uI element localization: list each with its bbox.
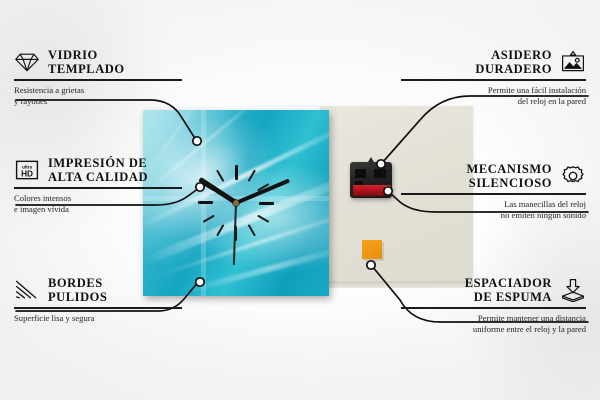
ultra-hd-icon-label-bottom: HD [21, 170, 33, 179]
title-line-1: BORDES [48, 276, 107, 290]
callout-title: MECANISMO SILENCIOSO [466, 162, 552, 190]
desc-line-2: no emiten ningún sonido [401, 210, 586, 221]
callout-divider [401, 307, 586, 309]
desc-line-2: uniforme entre el reloj y la pared [401, 324, 586, 335]
polished-edges-icon [14, 278, 40, 302]
callout-description: Superficie lisa y segura [14, 313, 199, 324]
callout-espaciador-de-espuma: ESPACIADOR DE ESPUMA Permite mantener un… [401, 276, 586, 335]
title-line-2: DE ESPUMA [465, 290, 552, 304]
title-line-2: TEMPLADO [48, 62, 125, 76]
callout-description: Resistencia a grietas y rayones [14, 85, 199, 107]
ultra-hd-icon: ultra HD [14, 158, 40, 182]
clock-second-hand [233, 203, 237, 265]
feather-streak [182, 243, 329, 295]
desc-line-2: e imagen vívida [14, 204, 199, 215]
title-line-1: MECANISMO [466, 162, 552, 176]
callout-header: BORDES PULIDOS [14, 276, 199, 304]
callout-title: VIDRIO TEMPLADO [48, 48, 125, 76]
clock-movement-mechanism [350, 162, 392, 198]
callout-header: VIDRIO TEMPLADO [14, 48, 199, 76]
gear-icon [560, 164, 586, 188]
callout-mecanismo-silencioso: MECANISMO SILENCIOSO Las manecillas del … [401, 162, 586, 221]
callout-impresion-alta-calidad: ultra HD IMPRESIÓN DE ALTA CALIDAD Color… [14, 156, 199, 215]
title-line-2: ALTA CALIDAD [48, 170, 148, 184]
callout-header: ASIDERO DURADERO [401, 48, 586, 76]
desc-line-1: Colores intensos [14, 193, 199, 204]
callout-description: Permite una fácil instalación del reloj … [401, 85, 586, 107]
product-infographic: VIDRIO TEMPLADO Resistencia a grietas y … [0, 0, 600, 400]
callout-title: ESPACIADOR DE ESPUMA [465, 276, 552, 304]
title-line-1: ASIDERO [475, 48, 552, 62]
desc-line-1: Permite mantener una distancia [401, 313, 586, 324]
callout-header: MECANISMO SILENCIOSO [401, 162, 586, 190]
callout-description: Las manecillas del reloj no emiten ningú… [401, 199, 586, 221]
clock-tick-bar [259, 202, 274, 205]
callout-divider [14, 307, 182, 309]
callout-title: BORDES PULIDOS [48, 276, 107, 304]
title-line-1: VIDRIO [48, 48, 125, 62]
title-line-2: PULIDOS [48, 290, 107, 304]
callout-divider [14, 187, 182, 189]
clock-tick-bar [203, 215, 215, 223]
callout-asidero-duradero: ASIDERO DURADERO Permite una fácil insta… [401, 48, 586, 107]
movement-slot [355, 169, 366, 178]
aa-battery [353, 185, 391, 196]
clock-hour-hand [198, 177, 238, 205]
callout-divider [401, 193, 586, 195]
desc-line-1: Permite una fácil instalación [401, 85, 586, 96]
clock-tick-bar [235, 165, 238, 180]
desc-line-2: del reloj en la pared [401, 96, 586, 107]
movement-body [350, 162, 392, 198]
glass-seam-vertical [201, 110, 206, 296]
movement-slot [374, 169, 386, 178]
clock-tick-bar [216, 170, 224, 182]
desc-line-1: Superficie lisa y segura [14, 313, 199, 324]
callout-divider [14, 79, 182, 81]
callout-header: ESPACIADOR DE ESPUMA [401, 276, 586, 304]
callout-vidrio-templado: VIDRIO TEMPLADO Resistencia a grietas y … [14, 48, 199, 107]
clock-tick-bar [216, 224, 224, 236]
desc-line-1: Resistencia a grietas [14, 85, 199, 96]
callout-description: Colores intensos e imagen vívida [14, 193, 199, 215]
clock-tick-bar [257, 215, 269, 223]
callout-title: ASIDERO DURADERO [475, 48, 552, 76]
desc-line-2: y rayones [14, 96, 199, 107]
title-line-2: SILENCIOSO [466, 176, 552, 190]
callout-bordes-pulidos: BORDES PULIDOS Superficie lisa y segura [14, 276, 199, 324]
callout-title: IMPRESIÓN DE ALTA CALIDAD [48, 156, 148, 184]
diamond-icon [14, 50, 40, 74]
foam-spacer-pad [362, 240, 382, 259]
clock-minute-hand [235, 178, 290, 204]
title-line-2: DURADERO [475, 62, 552, 76]
callout-divider [401, 79, 586, 81]
hanging-frame-icon [560, 50, 586, 74]
callout-description: Permite mantener una distancia uniforme … [401, 313, 586, 335]
title-line-1: ESPACIADOR [465, 276, 552, 290]
clock-tick-bar [248, 170, 256, 182]
clock-tick-bar [198, 201, 213, 204]
title-line-1: IMPRESIÓN DE [48, 156, 148, 170]
desc-line-1: Las manecillas del reloj [401, 199, 586, 210]
clock-center-pivot [233, 200, 239, 206]
foam-spacer-arrow-icon [560, 278, 586, 302]
callout-header: ultra HD IMPRESIÓN DE ALTA CALIDAD [14, 156, 199, 184]
feather-streak [159, 207, 329, 277]
clock-tick-bar [248, 224, 256, 236]
